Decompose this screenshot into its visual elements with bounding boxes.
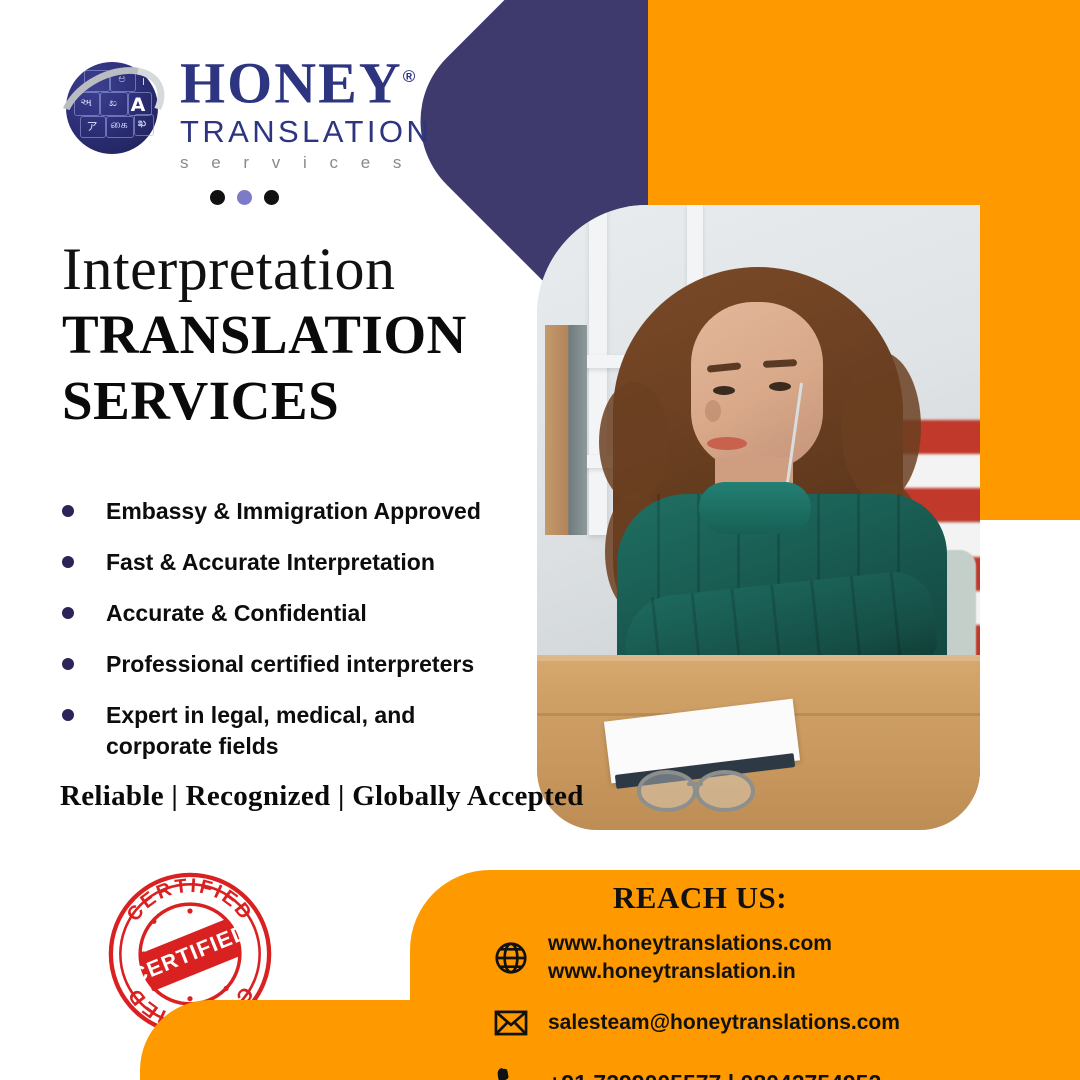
- interpreter-person: [595, 232, 955, 702]
- feature-label: Fast & Accurate Interpretation: [106, 547, 435, 578]
- phone-icon: [488, 1060, 534, 1080]
- turtleneck-collar: [699, 482, 811, 534]
- list-item: Expert in legal, medical, and corporate …: [56, 700, 526, 762]
- list-item: Fast & Accurate Interpretation: [56, 547, 526, 578]
- hero-photo: [537, 205, 980, 830]
- headline-script: Interpretation: [62, 236, 532, 302]
- logo-name-tertiary: s e r v i c e s: [180, 150, 432, 176]
- svg-text:CERTIFIED: CERTIFIED: [123, 875, 258, 926]
- feature-list: Embassy & Immigration Approved Fast & Ac…: [56, 496, 526, 782]
- list-item: Accurate & Confidential: [56, 598, 526, 629]
- logo-accent-dots: [210, 190, 279, 205]
- accent-dot: [264, 190, 279, 205]
- list-item: Professional certified interpreters: [56, 649, 526, 680]
- eyeglasses: [637, 770, 762, 806]
- bullet-dot-icon: [62, 709, 74, 721]
- logo-name-secondary: TRANSLATION: [180, 114, 432, 150]
- shelf-book: [545, 325, 587, 535]
- headline-block: Interpretation TRANSLATION SERVICES: [62, 236, 532, 434]
- contact-row-phone[interactable]: +91 7299005577 | 08042754952: [430, 1060, 1070, 1080]
- bullet-dot-icon: [62, 658, 74, 670]
- registered-trademark-icon: ®: [403, 67, 418, 86]
- email-address[interactable]: salesteam@honeytranslations.com: [548, 1009, 900, 1037]
- phone-numbers[interactable]: +91 7299005577 | 08042754952: [548, 1069, 881, 1080]
- accent-dot: [210, 190, 225, 205]
- website-url-2[interactable]: www.honeytranslation.in: [548, 958, 832, 986]
- tagline: Reliable | Recognized | Globally Accepte…: [60, 780, 584, 813]
- feature-label: Expert in legal, medical, and corporate …: [106, 700, 446, 762]
- website-url-1[interactable]: www.honeytranslations.com: [548, 930, 832, 958]
- feature-label: Embassy & Immigration Approved: [106, 496, 481, 527]
- bullet-dot-icon: [62, 607, 74, 619]
- headline-bold-2: SERVICES: [62, 368, 532, 434]
- headline-bold-1: TRANSLATION: [62, 302, 532, 368]
- lips: [707, 437, 747, 450]
- globe-logo-icon: க ಅ । અ ಖ A ア கை ఖ: [58, 54, 166, 162]
- contact-section: REACH US: www.honeytranslations.com www.…: [430, 880, 1070, 1080]
- feature-label: Professional certified interpreters: [106, 649, 474, 680]
- list-item: Embassy & Immigration Approved: [56, 496, 526, 527]
- envelope-icon: [488, 1000, 534, 1046]
- stamp-text-top: CERTIFIED: [123, 875, 258, 926]
- bullet-dot-icon: [62, 556, 74, 568]
- brand-logo[interactable]: க ಅ । અ ಖ A ア கை ఖ HONEY® TRANSLATION s …: [58, 46, 458, 176]
- logo-name-primary: HONEY®: [180, 46, 432, 114]
- bullet-dot-icon: [62, 505, 74, 517]
- contact-title: REACH US:: [430, 880, 970, 916]
- globe-icon: [488, 935, 534, 981]
- contact-row-email[interactable]: salesteam@honeytranslations.com: [430, 1000, 1070, 1046]
- poster-canvas: க ಅ । અ ಖ A ア கை ఖ HONEY® TRANSLATION s …: [0, 0, 1080, 1080]
- accent-dot: [237, 190, 252, 205]
- nose: [705, 400, 721, 422]
- feature-label: Accurate & Confidential: [106, 598, 367, 629]
- contact-row-website[interactable]: www.honeytranslations.com www.honeytrans…: [430, 930, 1070, 986]
